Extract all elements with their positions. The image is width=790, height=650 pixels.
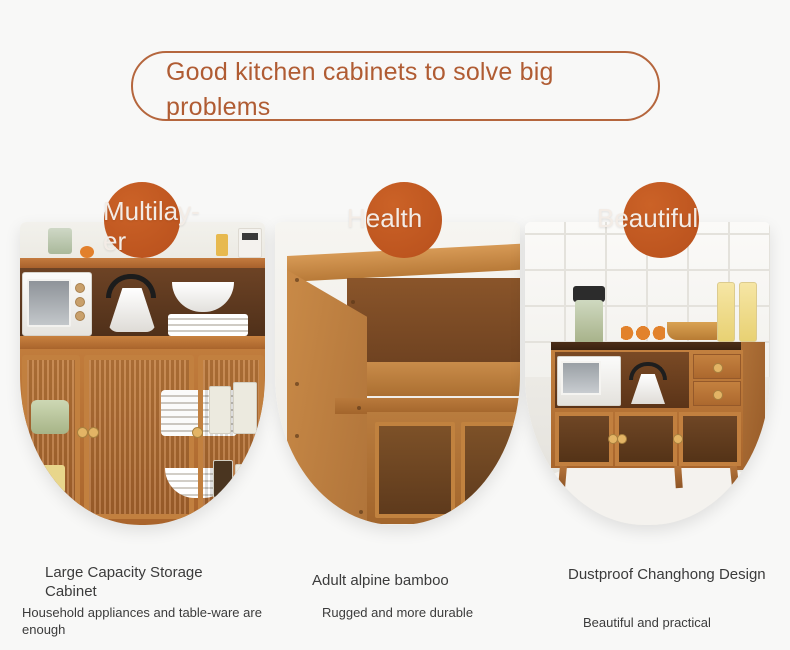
- caption-subtext-1: Household appliances and table-ware are …: [22, 604, 262, 638]
- caption-heading-2: Adult alpine bamboo: [312, 571, 532, 590]
- panel-2-photo: [275, 222, 520, 525]
- panel-2-shield: [275, 222, 520, 525]
- feature-panel-1[interactable]: [20, 222, 265, 525]
- badge-label-health: Health: [347, 203, 477, 233]
- caption-subtext-2: Rugged and more durable: [322, 604, 522, 621]
- panel-3-photo: [525, 222, 770, 525]
- caption-heading-1: Large Capacity Storage Cabinet: [45, 563, 255, 601]
- badge-label-beautiful: Beautiful: [597, 203, 747, 233]
- panel-3-shield: [525, 222, 770, 525]
- feature-panels: Multilay- er Health Beautiful: [0, 0, 790, 650]
- caption-subtext-3: Beautiful and practical: [583, 614, 790, 631]
- caption-heading-3: Dustproof Changhong Design: [568, 565, 783, 584]
- feature-panel-3[interactable]: [525, 222, 770, 525]
- badge-label-multilayer: Multilay- er: [103, 196, 189, 256]
- panel-1-shield: [20, 222, 265, 525]
- panel-1-photo: [20, 222, 265, 525]
- feature-panel-2[interactable]: [275, 222, 520, 525]
